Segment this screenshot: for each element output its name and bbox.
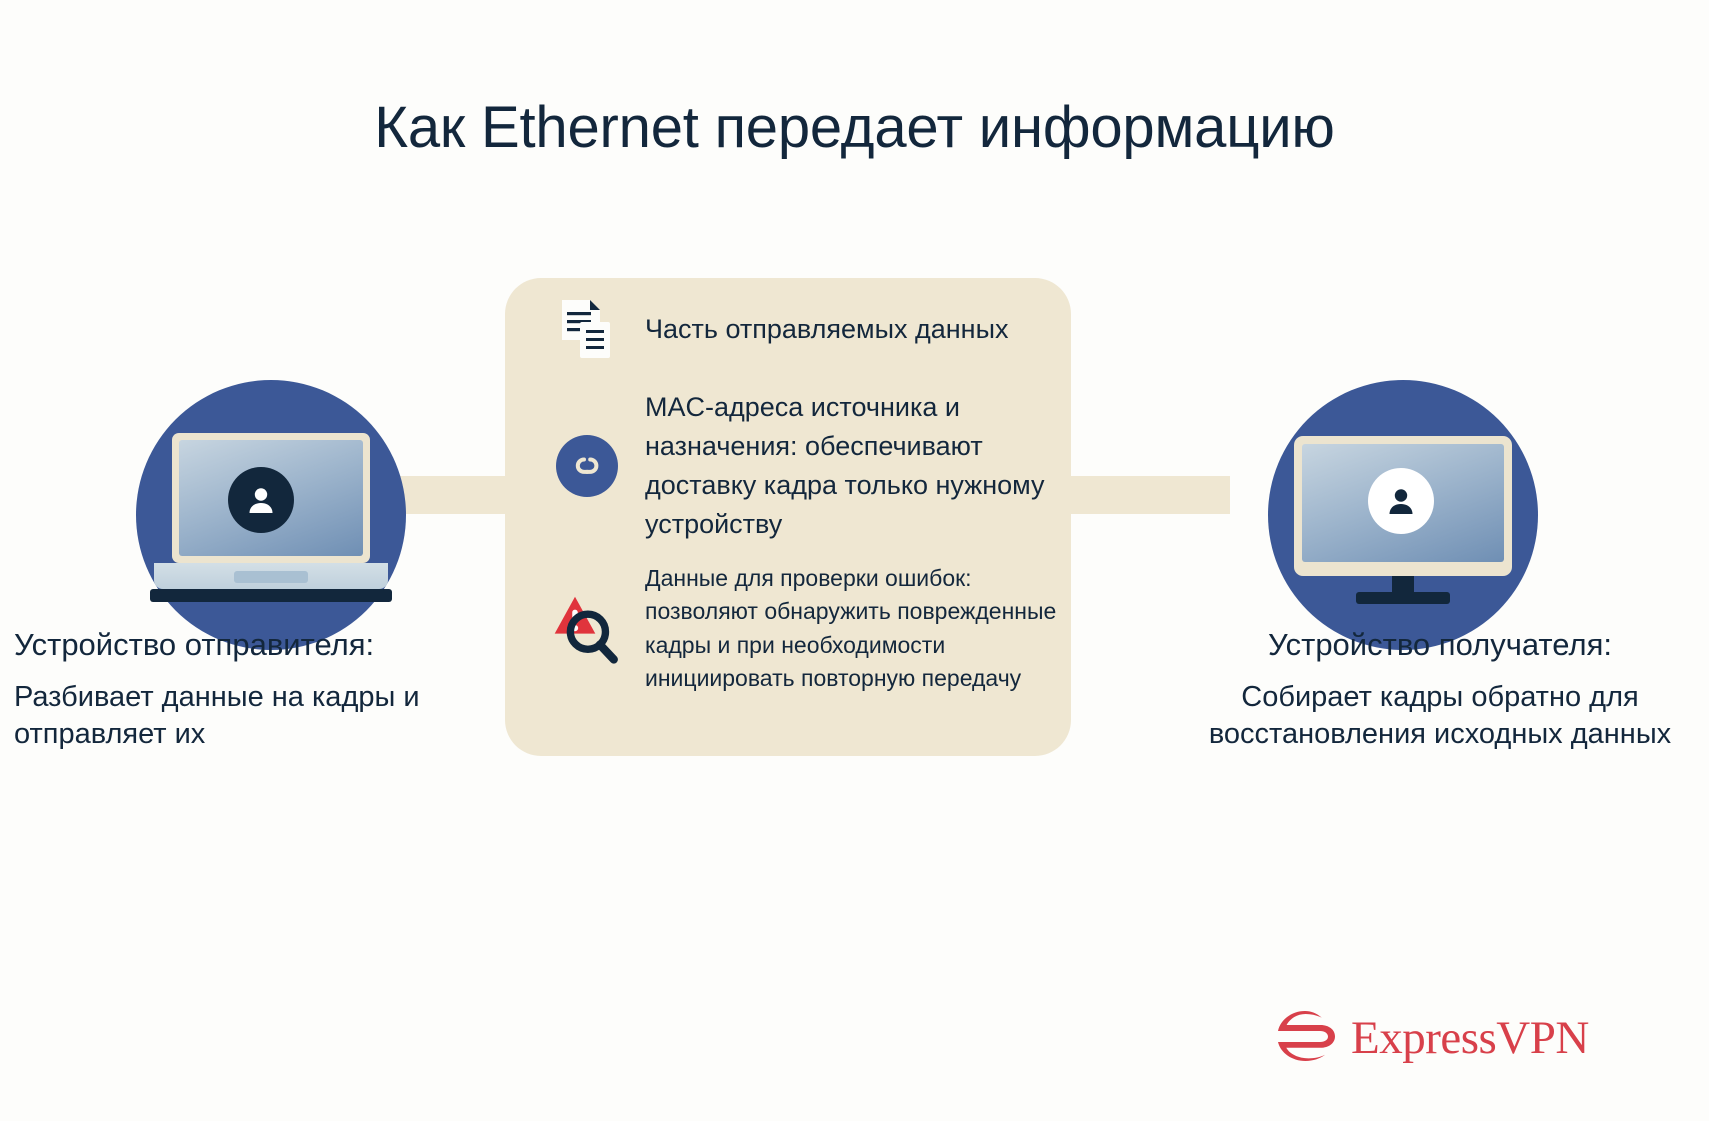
expressvpn-wordmark: ExpressVPN [1351,1015,1589,1062]
frame-row-payload: Часть отправляемых данных [551,298,1051,362]
frame-row-mac-addresses: MAC-адреса источника и назначения: обесп… [551,388,1061,545]
laptop-foot [150,589,392,602]
chain-link-chip [556,435,618,497]
sender-caption: Устройство отправителя: Разбивает данные… [14,626,504,754]
error-warning-magnifier-icon [551,588,623,670]
connector-bar-card-to-receiver [1065,476,1230,514]
user-avatar-icon [1368,468,1434,534]
receiver-body: Собирает кадры обратно для восстановлени… [1175,679,1705,754]
expressvpn-logo: ExpressVPN [1275,1008,1589,1069]
receiver-caption: Устройство получателя: Собирает кадры об… [1175,626,1705,754]
expressvpn-e-mark-icon [1275,1008,1337,1069]
receiver-headline: Устройство получателя: [1175,626,1705,665]
user-avatar-icon [228,467,294,533]
receiver-device-graphic [1268,380,1538,650]
ethernet-frame-card: Часть отправляемых данных MAC-адреса ист… [505,278,1071,756]
sender-body: Разбивает данные на кадры и отправляет и… [14,679,504,754]
frame-row-mac-addresses-text: MAC-адреса источника и назначения: обесп… [645,388,1061,545]
sender-device-graphic [136,380,406,650]
frame-row-error-check: Данные для проверки ошибок: позволяют об… [551,562,1061,695]
frame-row-error-check-text: Данные для проверки ошибок: позволяют об… [645,562,1061,695]
frame-row-payload-text: Часть отправляемых данных [645,310,1008,349]
laptop-trackpad [234,571,308,583]
sender-headline: Устройство отправителя: [14,626,504,665]
page-title: Как Ethernet передает информацию [0,96,1709,160]
chain-link-icon [551,435,623,497]
monitor-stand [1356,592,1450,604]
document-pages-icon [551,298,623,362]
infographic-canvas: Как Ethernet передает информацию [0,0,1709,1121]
